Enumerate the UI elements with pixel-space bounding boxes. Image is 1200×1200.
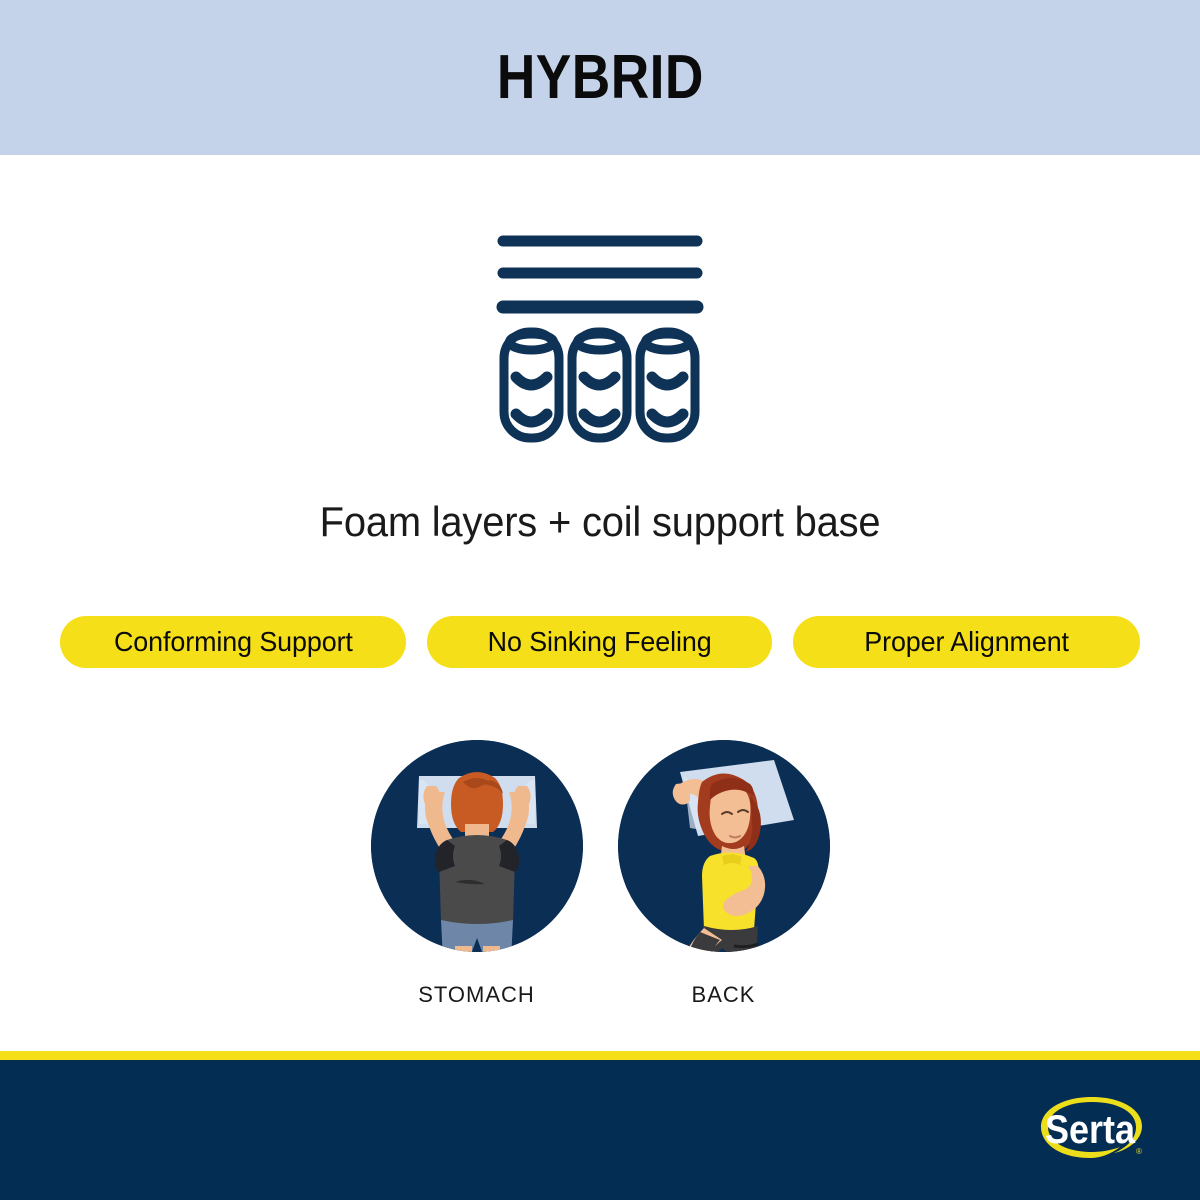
hybrid-mattress-layers-coils-icon (490, 228, 710, 443)
feature-badge-no-sinking-feeling[interactable]: No Sinking Feeling (427, 616, 772, 668)
header-bar: HYBRID (0, 0, 1200, 155)
feature-badge-conforming-support[interactable]: Conforming Support (60, 616, 406, 668)
subtitle-text: Foam layers + coil support base (30, 498, 1170, 546)
serta-wordmark: Serta (1045, 1108, 1136, 1152)
sleep-position-label: STOMACH (418, 982, 535, 1008)
footer-bar (0, 1060, 1200, 1200)
footer-accent-stripe (0, 1051, 1200, 1060)
sleep-position-label: BACK (692, 982, 756, 1008)
infographic-page: HYBRID (0, 0, 1200, 1200)
stomach-sleeper-illustration (371, 740, 583, 952)
feature-badge-label: Proper Alignment (864, 626, 1069, 658)
feature-badge-row: Conforming Support No Sinking Feeling Pr… (60, 616, 1140, 668)
serta-logo[interactable]: Serta ® (1036, 1090, 1148, 1170)
registered-trademark-symbol: ® (1136, 1147, 1142, 1156)
sleep-position-stomach[interactable]: STOMACH (371, 740, 583, 1008)
sleep-position-back[interactable]: BACK (618, 740, 830, 1008)
feature-badge-proper-alignment[interactable]: Proper Alignment (793, 616, 1140, 668)
feature-badge-label: No Sinking Feeling (488, 626, 712, 658)
sleep-positions-row: STOMACH (0, 740, 1200, 1008)
page-title: HYBRID (497, 47, 704, 109)
back-sleeper-illustration (618, 740, 830, 952)
feature-badge-label: Conforming Support (114, 626, 353, 658)
